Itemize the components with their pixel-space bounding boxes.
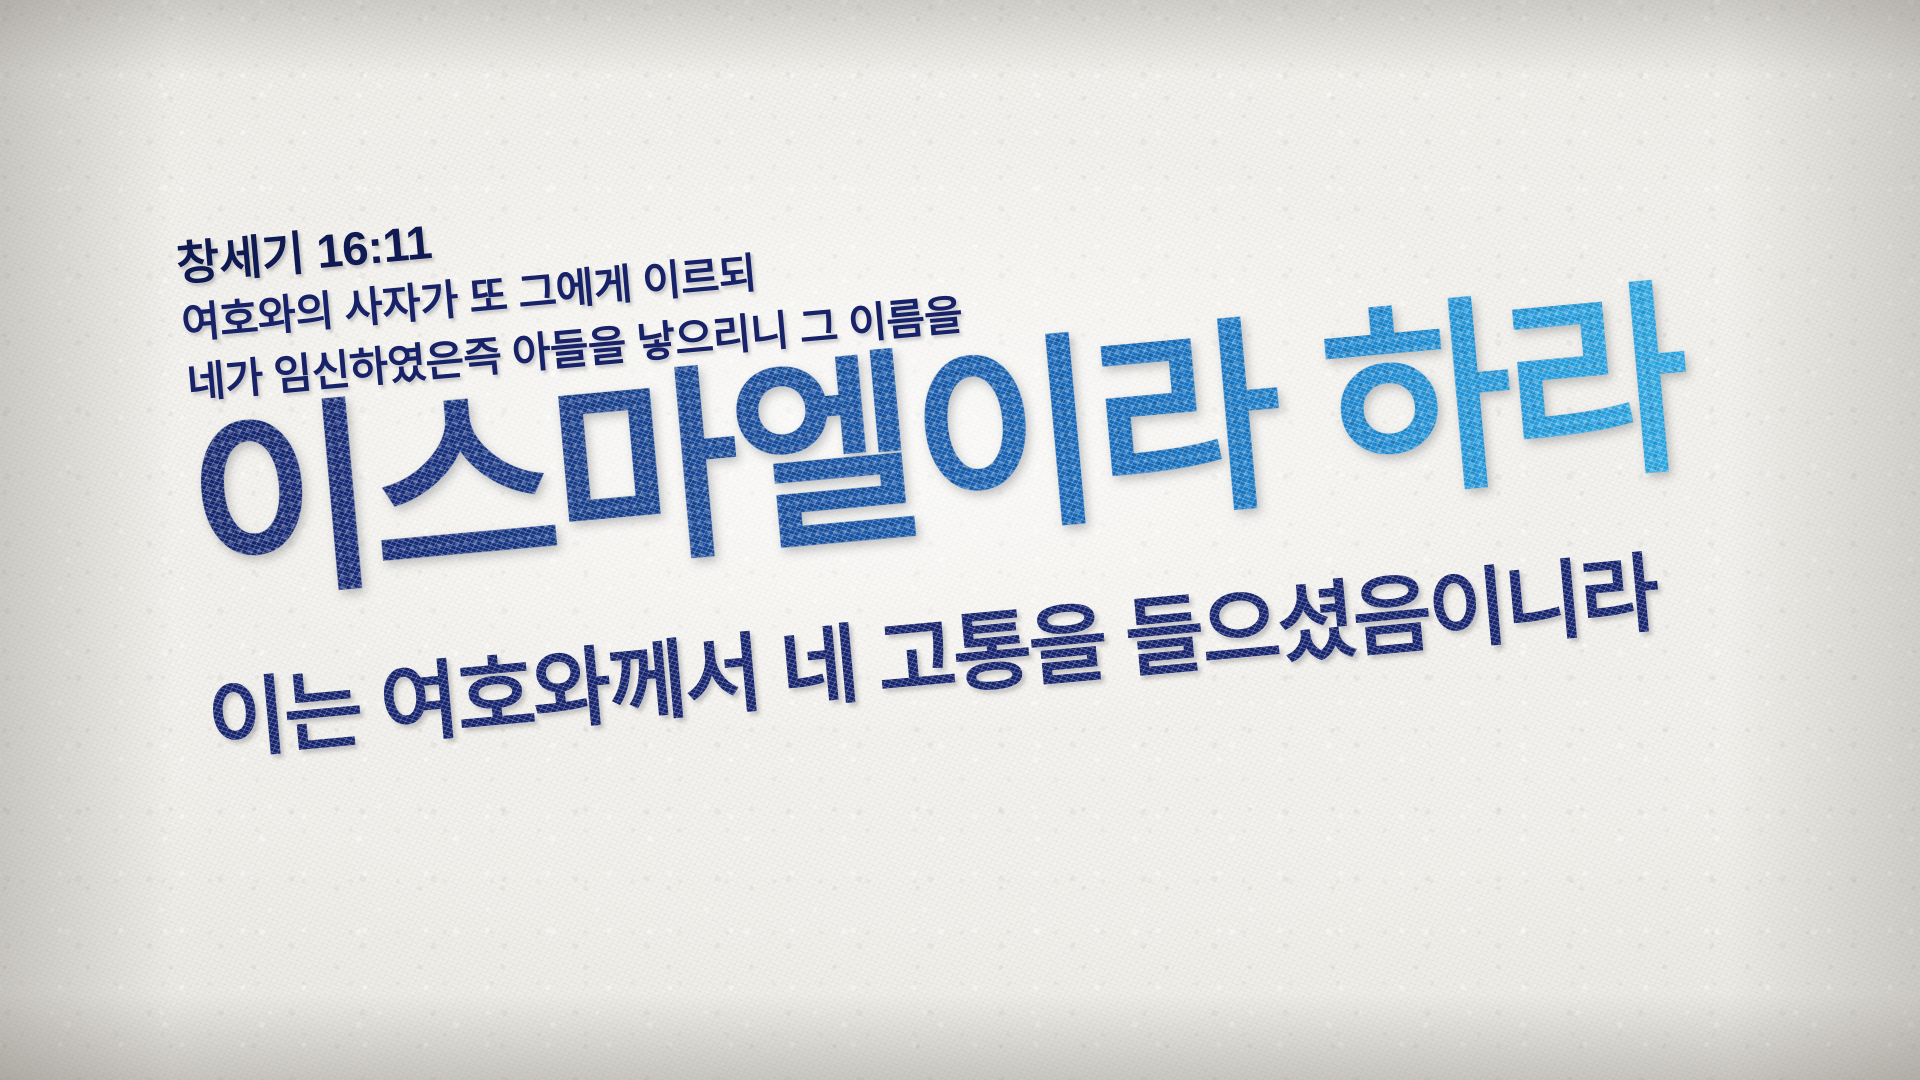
text-stage: 창세기 16:11 여호와의 사자가 또 그에게 이르되 네가 임신하였은즉 아… (0, 0, 1920, 1080)
scripture-card: 창세기 16:11 여호와의 사자가 또 그에게 이르되 네가 임신하였은즉 아… (0, 0, 1920, 1080)
verse-reference: 창세기 16:11 (174, 218, 433, 288)
